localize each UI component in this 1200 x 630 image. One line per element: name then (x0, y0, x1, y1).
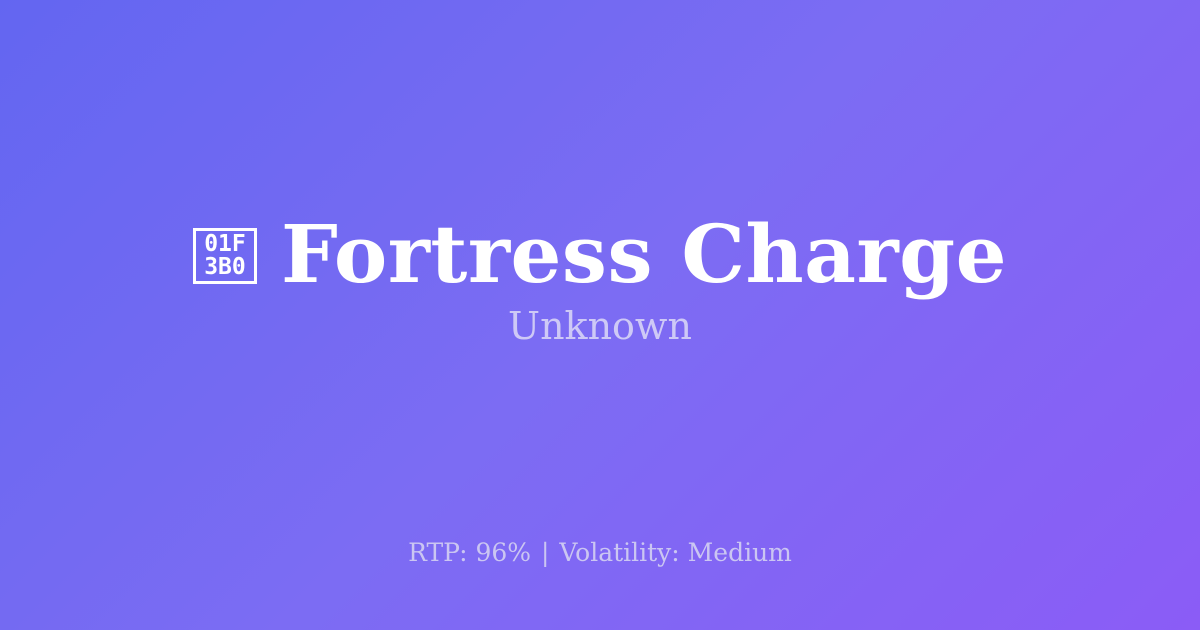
game-meta-line: RTP: 96% | Volatility: Medium (0, 538, 1200, 568)
tofu-codepoint-upper: 01F (204, 233, 246, 256)
title-row: 01F 3B0 Fortress Charge (0, 214, 1200, 294)
game-title: Fortress Charge (281, 214, 1007, 294)
volatility-value: Volatility: Medium (559, 538, 791, 567)
rtp-value: RTP: 96% (408, 538, 531, 567)
game-subtitle: Unknown (508, 304, 692, 350)
slot-machine-emoji-tofu-icon: 01F 3B0 (193, 228, 257, 284)
tofu-codepoint-lower: 3B0 (204, 256, 246, 279)
game-preview-card: 01F 3B0 Fortress Charge Unknown RTP: 96%… (0, 0, 1200, 630)
meta-separator: | (539, 538, 551, 567)
